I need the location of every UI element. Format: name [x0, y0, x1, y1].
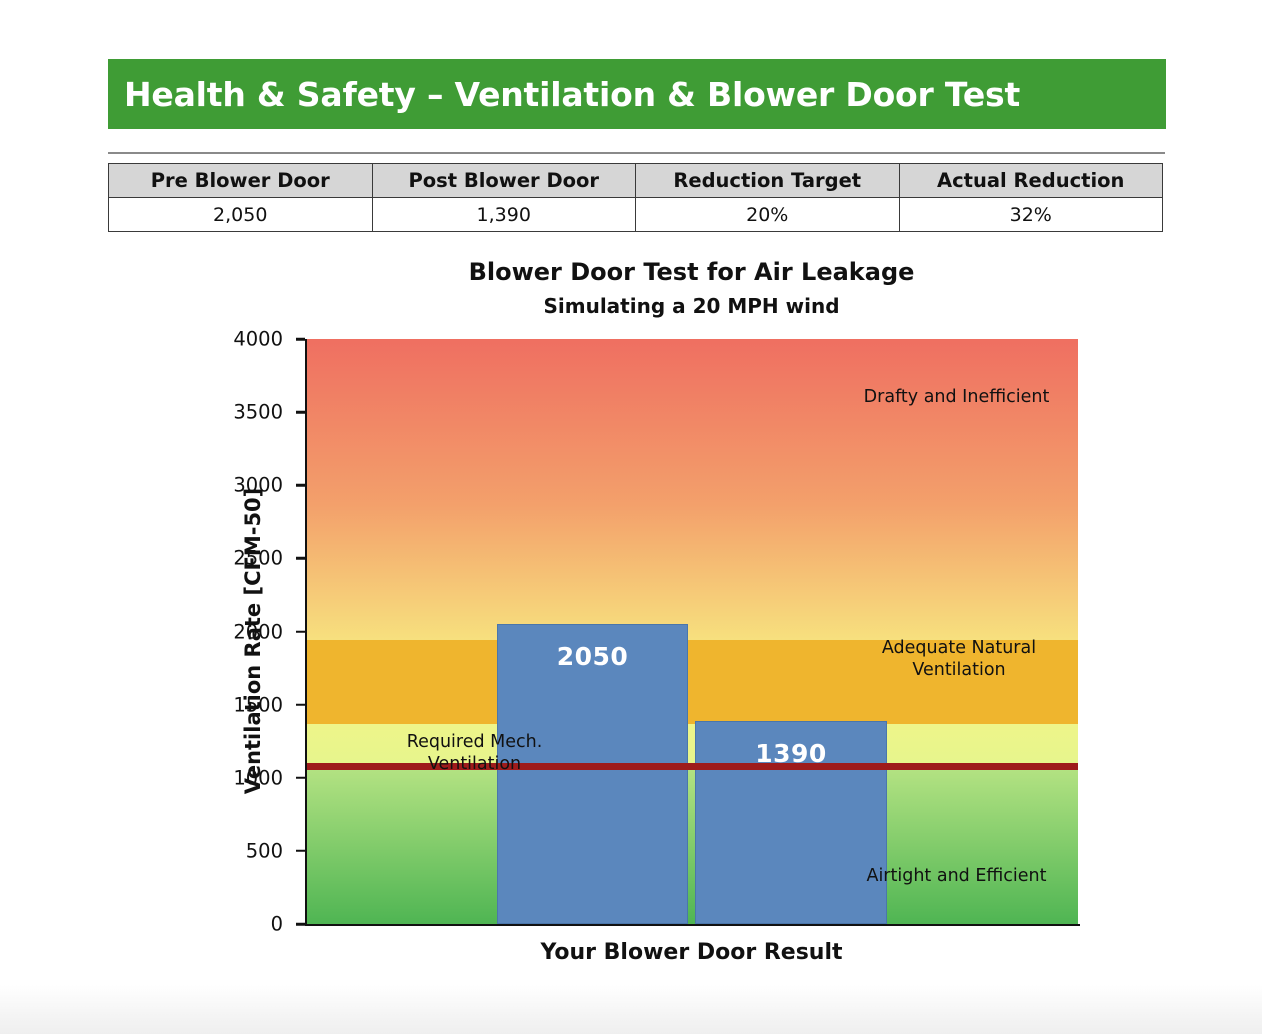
y-tick-label: 3000	[233, 474, 283, 497]
y-tick-label: 2500	[233, 547, 283, 570]
bar-value-label: 2050	[498, 642, 687, 671]
y-tick-mark	[296, 923, 305, 926]
blower-door-chart: Blower Door Test for Air Leakage Simulat…	[0, 240, 1262, 985]
bar-post-blower-door[interactable]: 1390	[695, 721, 887, 924]
page-bottom-shadow	[0, 985, 1262, 1034]
column-header-pre-blower-door: Pre Blower Door	[109, 164, 373, 198]
y-tick-mark	[296, 411, 305, 414]
cell-pre-blower-door: 2,050	[109, 198, 373, 232]
y-tick-label: 500	[246, 839, 283, 862]
y-tick-label: 1500	[233, 693, 283, 716]
y-tick-mark	[296, 630, 305, 633]
zone-label-airtight-efficient: Airtight and Efficient	[849, 866, 1064, 888]
slide-page: Health & Safety – Ventilation & Blower D…	[0, 0, 1262, 1034]
y-tick-mark	[296, 703, 305, 706]
column-header-post-blower-door: Post Blower Door	[372, 164, 636, 198]
column-header-reduction-target: Reduction Target	[636, 164, 900, 198]
zone-label-drafty-inefficient: Drafty and Inefficient	[849, 387, 1064, 409]
required-mech-ventilation-label: Required Mech. Ventilation	[367, 732, 582, 776]
cell-post-blower-door: 1,390	[372, 198, 636, 232]
table-row: 2,050 1,390 20% 32%	[109, 198, 1163, 232]
zone-drafty-inefficient	[305, 339, 1078, 640]
cell-reduction-target: 20%	[636, 198, 900, 232]
y-tick-mark	[296, 484, 305, 487]
y-tick-label: 2000	[233, 620, 283, 643]
y-tick-mark	[296, 338, 305, 341]
y-tick-mark	[296, 850, 305, 853]
y-tick-label: 1000	[233, 766, 283, 789]
chart-title: Blower Door Test for Air Leakage	[305, 258, 1078, 286]
summary-table: Pre Blower Door Post Blower Door Reducti…	[108, 163, 1163, 232]
y-tick-label: 4000	[233, 328, 283, 351]
y-tick-mark	[296, 777, 305, 780]
y-tick-mark	[296, 557, 305, 560]
page-title: Health & Safety – Ventilation & Blower D…	[108, 75, 1020, 114]
header-divider-rule	[108, 152, 1165, 154]
y-tick-label: 0	[271, 913, 283, 936]
zone-label-adequate-natural-ventilation: Adequate Natural Ventilation	[864, 638, 1054, 682]
y-tick-label: 3500	[233, 401, 283, 424]
cell-actual-reduction: 32%	[899, 198, 1163, 232]
table-header-row: Pre Blower Door Post Blower Door Reducti…	[109, 164, 1163, 198]
plot-area: 2050 1390 Required Mech. Ventilation Dra…	[305, 339, 1078, 924]
y-axis-ticks: 0 500 1000 1500 2000 2500	[0, 240, 305, 985]
chart-subtitle: Simulating a 20 MPH wind	[305, 294, 1078, 318]
header-banner: Health & Safety – Ventilation & Blower D…	[108, 59, 1166, 129]
zone-airtight-efficient	[305, 766, 1078, 924]
column-header-actual-reduction: Actual Reduction	[899, 164, 1163, 198]
x-axis-title: Your Blower Door Result	[305, 940, 1078, 965]
